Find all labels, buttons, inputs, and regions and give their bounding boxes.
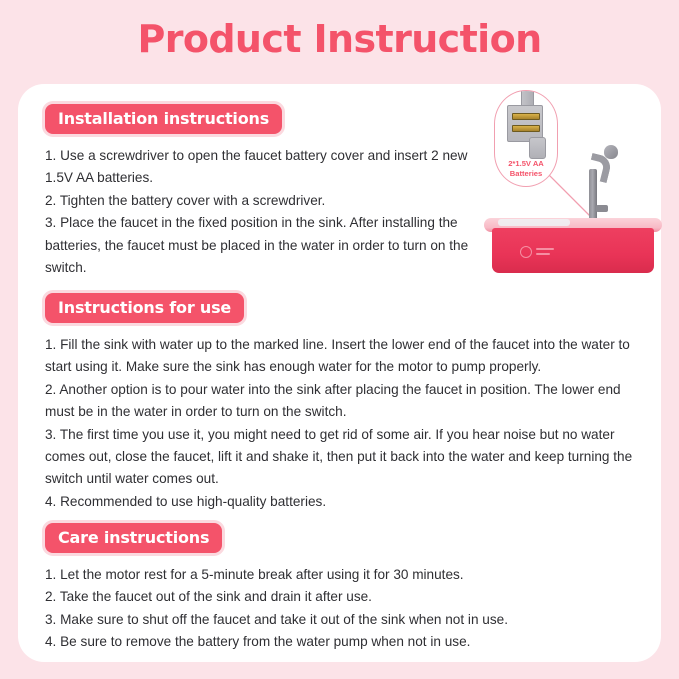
callout-label-line1: 2*1.5V AA — [495, 159, 557, 169]
sink-basin-opening — [498, 219, 570, 226]
instruction-line: 2. Tighten the battery cover with a scre… — [45, 190, 490, 212]
section-badge-use: Instructions for use — [45, 293, 244, 323]
faucet-switch-icon — [596, 205, 608, 212]
instruction-line: 1. Fill the sink with water up to the ma… — [45, 334, 645, 379]
badge-wrap-installation: Installation instructions — [45, 104, 490, 134]
section-instructions-for-use: Instructions for use 1. Fill the sink wi… — [45, 293, 645, 513]
instruction-line: 1. Let the motor rest for a 5-minute bre… — [45, 564, 605, 586]
instruction-line: 3. Make sure to shut off the faucet and … — [45, 609, 605, 631]
brand-logo-mark — [520, 246, 532, 258]
instruction-line: 3. The first time you use it, you might … — [45, 424, 645, 491]
section-badge-installation: Installation instructions — [45, 104, 282, 134]
battery-cover-icon — [529, 137, 546, 159]
faucet-illustration — [580, 143, 626, 229]
brand-logo-text — [536, 248, 554, 250]
instruction-line: 4. Recommended to use high-quality batte… — [45, 491, 645, 513]
instruction-line: 3. Place the faucet in the fixed positio… — [45, 212, 490, 279]
callout-label-line2: Batteries — [495, 169, 557, 179]
section-care: Care instructions 1. Let the motor rest … — [45, 523, 605, 654]
instruction-line: 4. Be sure to remove the battery from th… — [45, 631, 605, 653]
badge-wrap-care: Care instructions — [45, 523, 605, 553]
sink-illustration — [484, 218, 662, 276]
instructions-card: Installation instructions 1. Use a screw… — [18, 84, 661, 662]
brand-logo — [520, 246, 560, 259]
brand-logo-text — [536, 253, 550, 255]
badge-wrap-use: Instructions for use — [45, 293, 645, 323]
section-installation: Installation instructions 1. Use a screw… — [45, 104, 490, 279]
callout-label: 2*1.5V AA Batteries — [495, 159, 557, 178]
battery-cell-icon — [512, 113, 540, 120]
instruction-line: 2. Another option is to pour water into … — [45, 379, 645, 424]
product-figure: 2*1.5V AA Batteries — [484, 88, 662, 276]
section-badge-care: Care instructions — [45, 523, 222, 553]
sink-basin — [492, 228, 654, 273]
instruction-line: 1. Use a screwdriver to open the faucet … — [45, 145, 490, 190]
section-body-installation: 1. Use a screwdriver to open the faucet … — [45, 145, 490, 279]
battery-callout-bubble: 2*1.5V AA Batteries — [494, 90, 558, 187]
section-body-use: 1. Fill the sink with water up to the ma… — [45, 334, 645, 513]
instruction-line: 2. Take the faucet out of the sink and d… — [45, 586, 605, 608]
battery-cell-icon — [512, 125, 540, 132]
section-body-care: 1. Let the motor rest for a 5-minute bre… — [45, 564, 605, 654]
page-title: Product Instruction — [0, 17, 679, 61]
